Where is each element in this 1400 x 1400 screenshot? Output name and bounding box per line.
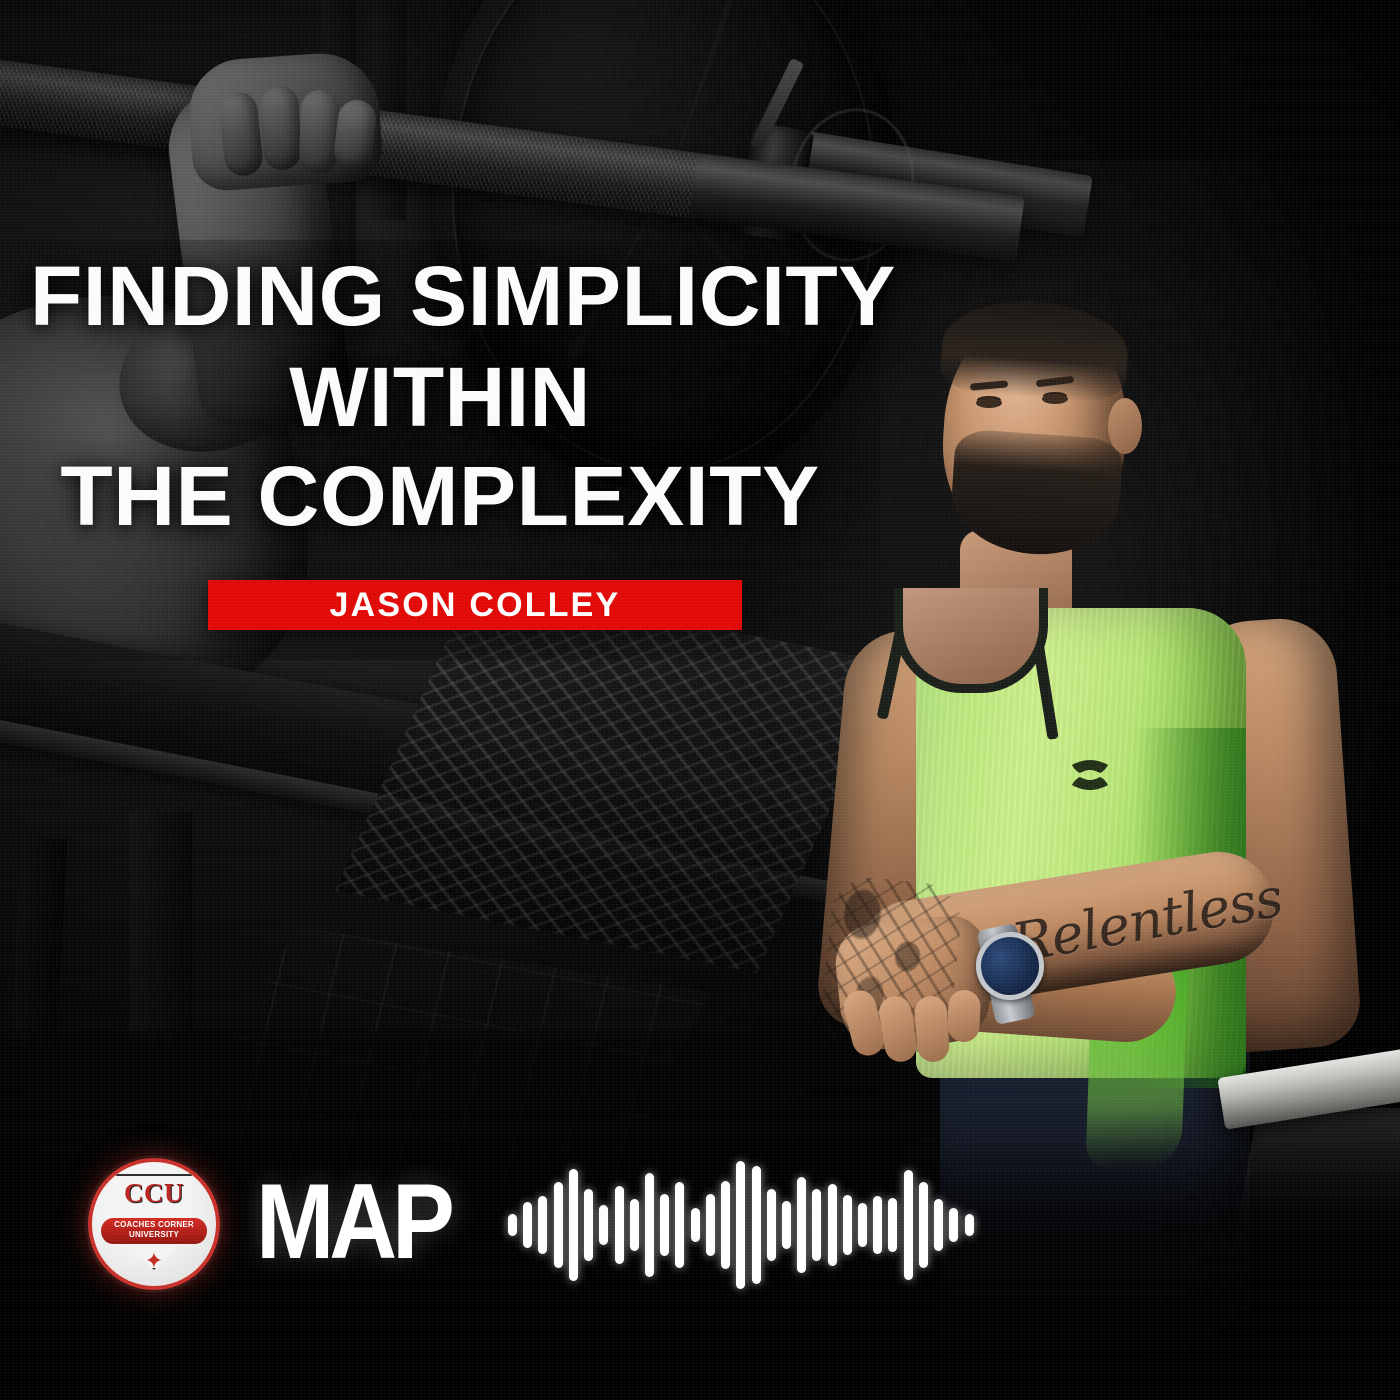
ccu-fullname: COACHES CORNER UNIVERSITY bbox=[104, 1220, 204, 1240]
waveform-bar bbox=[873, 1196, 882, 1254]
guest-name-label: JASON COLLEY bbox=[330, 586, 621, 625]
ccu-abbrev-label: CCU bbox=[111, 1178, 197, 1209]
waveform-bar bbox=[675, 1182, 684, 1268]
audio-waveform bbox=[508, 1160, 974, 1290]
finger bbox=[947, 989, 981, 1042]
episode-title: FINDING SIMPLICITY WITHIN THE COMPLEXITY bbox=[0, 255, 880, 538]
ear bbox=[1108, 398, 1142, 454]
waveform-bar bbox=[767, 1189, 776, 1261]
finger bbox=[914, 995, 951, 1063]
waveform-bar bbox=[599, 1205, 608, 1245]
waveform-bar bbox=[965, 1214, 974, 1236]
waveform-bar bbox=[782, 1201, 791, 1249]
eye bbox=[976, 398, 1002, 408]
waveform-bar bbox=[858, 1203, 867, 1247]
eye bbox=[1042, 394, 1068, 404]
waveform-bar bbox=[584, 1189, 593, 1261]
waveform-bar bbox=[736, 1161, 745, 1289]
waveform-bar bbox=[752, 1166, 761, 1284]
ccu-logo: CCU COACHES CORNER UNIVERSITY ✦ bbox=[88, 1158, 220, 1290]
waveform-bar bbox=[691, 1208, 700, 1242]
waveform-bar bbox=[645, 1173, 654, 1277]
waveform-bar bbox=[660, 1194, 669, 1256]
waveform-bar bbox=[797, 1177, 806, 1273]
waveform-bar bbox=[630, 1199, 639, 1251]
waveform-bar bbox=[904, 1170, 913, 1280]
waveform-bar bbox=[721, 1181, 730, 1269]
waveform-bar bbox=[508, 1214, 517, 1236]
waveform-bar bbox=[828, 1184, 837, 1266]
waveform-bar bbox=[554, 1182, 563, 1268]
title-line-1: FINDING SIMPLICITY bbox=[30, 255, 850, 338]
waveform-bar bbox=[919, 1182, 928, 1268]
guest-name-banner: JASON COLLEY bbox=[208, 580, 742, 630]
star-icon: ✦ bbox=[141, 1248, 167, 1274]
map-wordmark: MAP bbox=[256, 1168, 450, 1275]
podcast-cover-poster: Relentless FINDING SIMPLICITY WITHIN THE… bbox=[0, 0, 1400, 1400]
ccu-fullname-line1: COACHES CORNER bbox=[104, 1220, 204, 1230]
waveform-bar bbox=[888, 1198, 897, 1252]
waveform-bar bbox=[706, 1194, 715, 1256]
waveform-bar bbox=[569, 1169, 578, 1281]
waveform-bar bbox=[615, 1186, 624, 1264]
waveform-bar bbox=[934, 1199, 943, 1251]
waveform-bar bbox=[538, 1196, 547, 1254]
waveform-bar bbox=[843, 1195, 852, 1255]
waveform-bar bbox=[812, 1189, 821, 1261]
ccu-fullname-line2: UNIVERSITY bbox=[104, 1230, 204, 1240]
title-line-2: WITHIN bbox=[38, 356, 842, 439]
under-armour-icon bbox=[1066, 758, 1114, 792]
waveform-bar bbox=[949, 1208, 958, 1242]
title-line-3: THE COMPLEXITY bbox=[30, 455, 850, 538]
waveform-bar bbox=[523, 1202, 532, 1248]
